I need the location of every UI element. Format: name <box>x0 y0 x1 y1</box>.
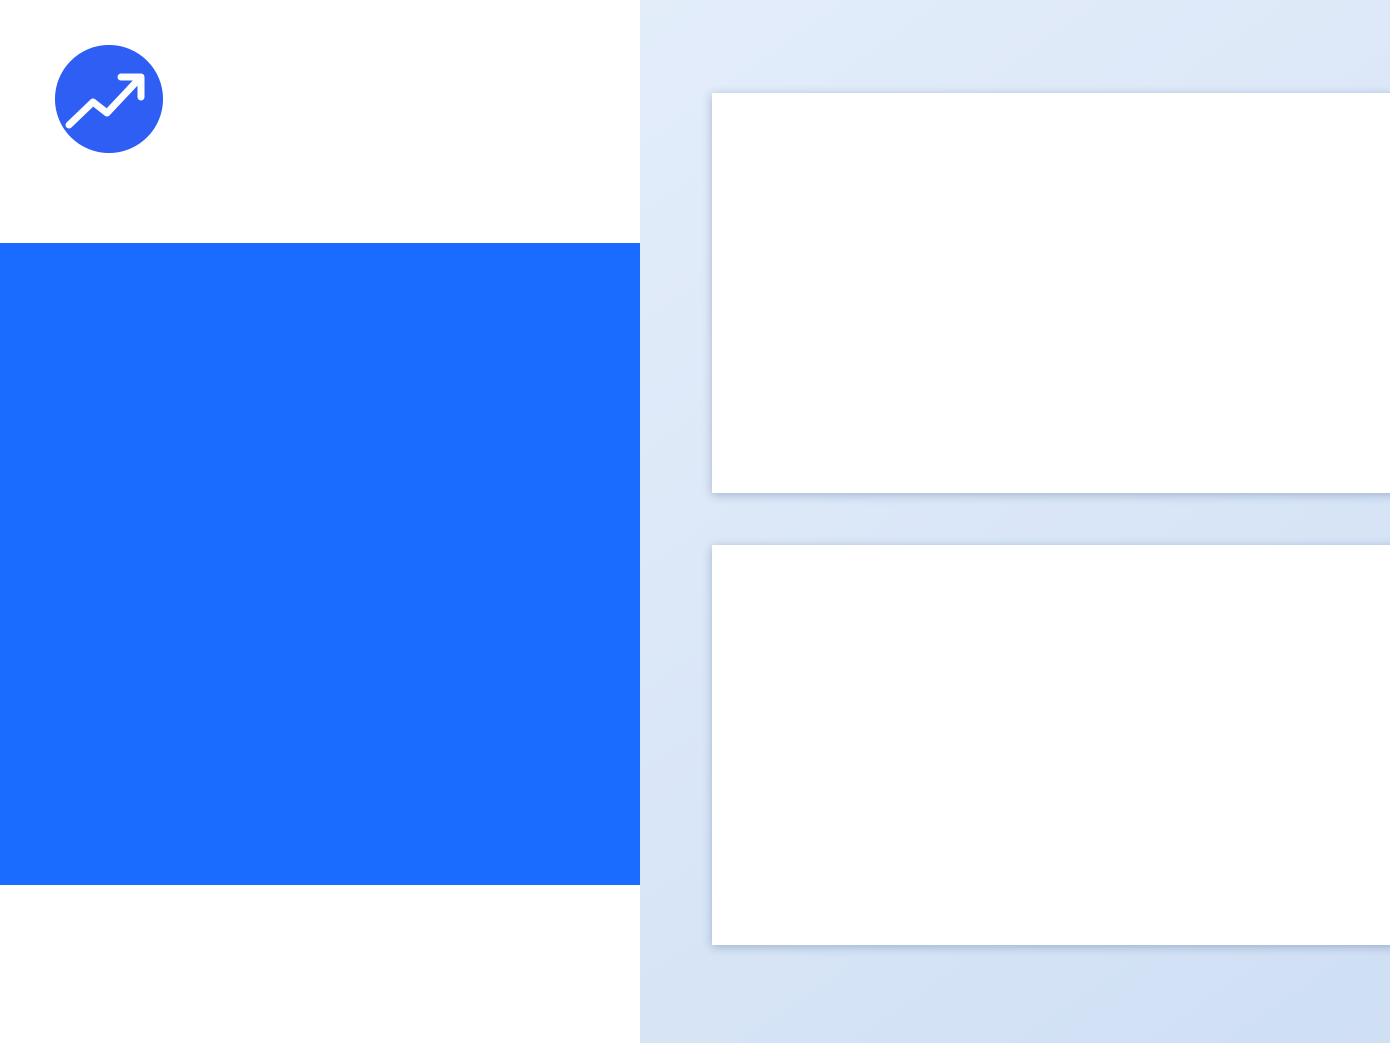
growth-arrow-icon <box>55 45 163 153</box>
poster-root <box>0 0 1390 1043</box>
dashboard-screenshot-top <box>712 93 1390 493</box>
dashboard-screenshot-bottom <box>712 545 1390 945</box>
brand-logo <box>55 40 475 155</box>
blue-description-panel <box>0 243 640 885</box>
